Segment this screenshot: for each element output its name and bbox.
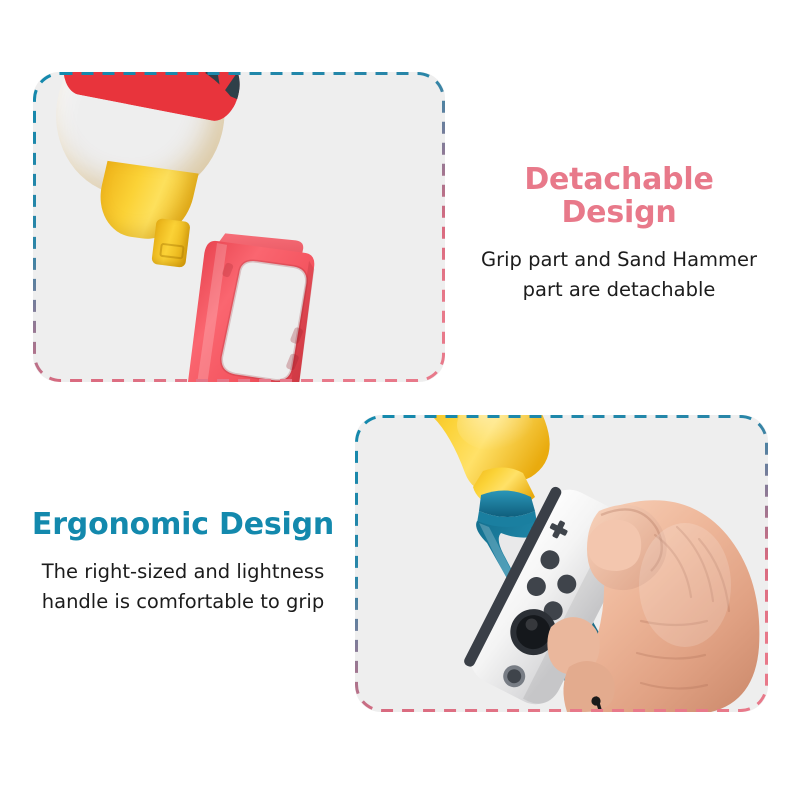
ergonomic-design-heading: Ergonomic Design bbox=[22, 508, 344, 541]
ergonomic-design-photo bbox=[355, 415, 768, 712]
ergonomic-design-body-line-2: handle is comfortable to grip bbox=[22, 587, 344, 617]
detachable-design-panel bbox=[33, 72, 445, 382]
detachable-design-heading: Detachable Design bbox=[462, 163, 776, 229]
detachable-design-body-line-2: part are detachable bbox=[462, 275, 776, 305]
ergonomic-design-panel bbox=[355, 415, 768, 712]
detachable-design-body-line-1: Grip part and Sand Hammer bbox=[462, 245, 776, 275]
detachable-design-photo bbox=[33, 72, 445, 382]
ergonomic-design-text: Ergonomic Design The right-sized and lig… bbox=[22, 508, 344, 616]
sand-hammer-in-hand-art bbox=[355, 415, 768, 712]
detachable-design-text: Detachable Design Grip part and Sand Ham… bbox=[462, 163, 776, 304]
ergonomic-design-body-line-1: The right-sized and lightness bbox=[22, 557, 344, 587]
